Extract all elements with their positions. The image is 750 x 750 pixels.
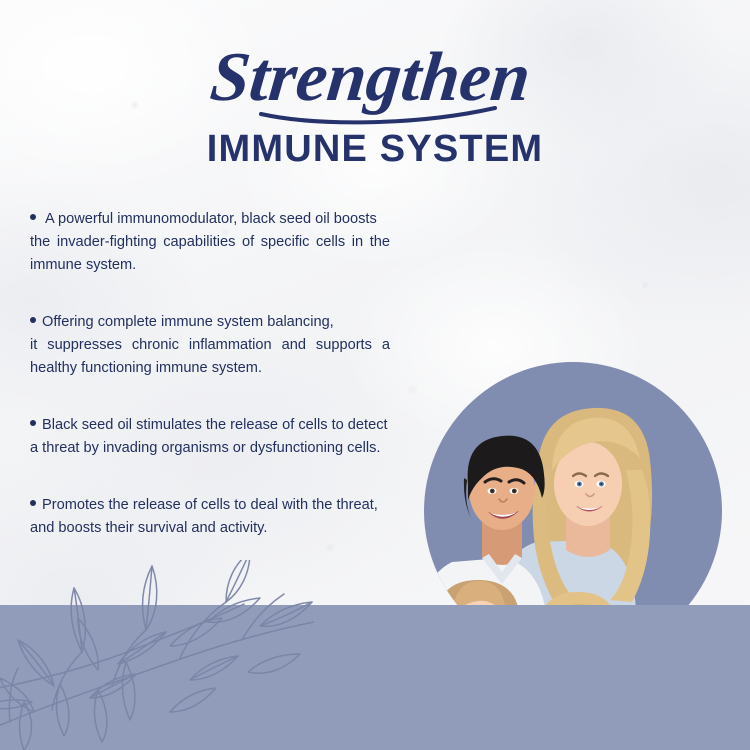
benefit-item-2: Offering complete immune system balancin…: [30, 311, 390, 380]
benefit-item-3: Black seed oil stimulates the release of…: [30, 414, 390, 460]
benefit-line: a threat by invading organisms or dysfun…: [30, 437, 390, 460]
benefit-line: the invader-fighting capabilities of spe…: [30, 231, 390, 254]
benefit-item-1: A powerful immunomodulator, black seed o…: [30, 208, 390, 277]
page-subtitle: IMMUNE SYSTEM: [0, 130, 750, 168]
benefit-line: Promotes the release of cells to deal wi…: [30, 494, 390, 517]
bullet-icon: [30, 214, 36, 220]
bullet-icon: [30, 317, 36, 323]
benefit-line: healthy functioning immune system.: [30, 357, 390, 380]
benefit-item-4: Promotes the release of cells to deal wi…: [30, 494, 390, 540]
benefit-line-text: Promotes the release of cells to deal wi…: [42, 497, 378, 513]
benefit-line: Offering complete immune system balancin…: [30, 311, 390, 334]
benefit-line: immune system.: [30, 254, 390, 277]
benefit-line: A powerful immunomodulator, black seed o…: [30, 208, 390, 231]
bullet-icon: [30, 500, 36, 506]
benefit-line: Black seed oil stimulates the release of…: [30, 414, 390, 437]
bullet-icon: [30, 420, 36, 426]
bottom-color-band: [0, 605, 750, 750]
benefit-line-text: A powerful immunomodulator, black seed o…: [45, 211, 377, 227]
benefit-line: it suppresses chronic inflammation and s…: [30, 334, 390, 357]
script-title-text: Strengthen: [207, 38, 534, 116]
page-title-script: Strengthen: [0, 34, 750, 130]
benefits-list: A powerful immunomodulator, black seed o…: [30, 208, 390, 574]
benefit-line-text: Offering complete immune system balancin…: [42, 314, 334, 330]
benefit-line-text: Black seed oil stimulates the release of…: [42, 417, 388, 433]
benefit-line: and boosts their survival and activity.: [30, 517, 390, 540]
poster: Strengthen IMMUNE SYSTEM A powerful immu…: [0, 0, 750, 750]
